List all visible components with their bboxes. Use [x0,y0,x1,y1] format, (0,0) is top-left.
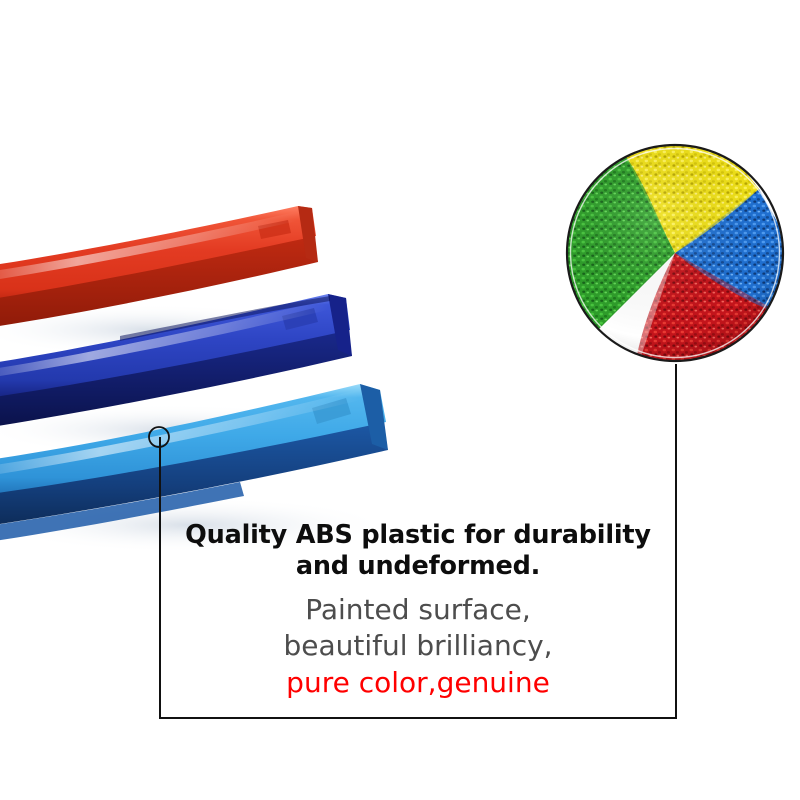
subtext-line-1: Painted surface, [161,592,675,628]
subtext-block: Painted surface, beautiful brilliancy, p… [161,592,675,701]
text-callout-panel: Quality ABS plastic for durability and u… [159,437,677,719]
plastic-pellets-magnifier [563,141,787,365]
headline-block: Quality ABS plastic for durability and u… [161,520,675,582]
subtext-line-2: beautiful brilliancy, [161,628,675,664]
headline-line-1: Quality ABS plastic for durability [161,520,675,551]
headline-line-2: and undeformed. [161,551,675,582]
product-marketing-image: Quality ABS plastic for durability and u… [0,0,800,800]
accent-line: pure color,genuine [161,665,675,701]
